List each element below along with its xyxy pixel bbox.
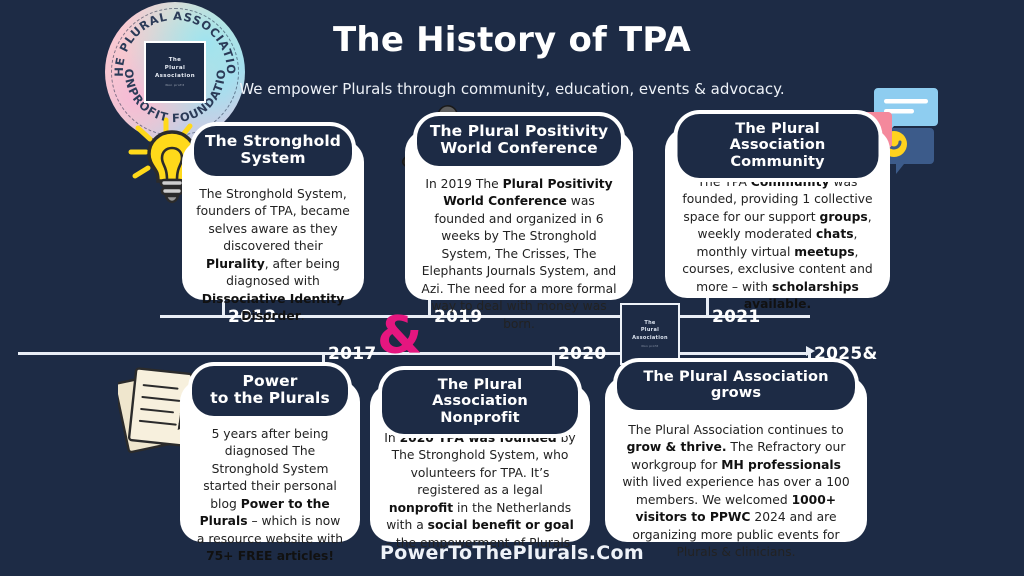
card-grows-body: The Plural Association continues to grow…: [619, 422, 853, 562]
card-nonprofit-title-line1: The Plural Association: [392, 377, 568, 410]
card-nonprofit-title: The Plural Association Nonprofit: [382, 370, 578, 434]
timeline-logo-line-1: The: [644, 320, 655, 328]
card-grows-title-line2: grows: [627, 385, 845, 401]
timeline-logo-tagline: Non profit: [642, 344, 659, 348]
ampersand-accent: &: [377, 310, 422, 362]
infographic-canvas: THE PLURAL ASSOCIATION NONPROFIT FOUNDAT…: [0, 0, 1024, 576]
card-power-to-the-plurals: Power to the Plurals 5 years after being…: [180, 380, 360, 542]
timeline-midpoint-logo: The Plural Association Non profit: [620, 303, 680, 365]
card-power-title-line2: to the Plurals: [202, 390, 338, 407]
card-plural-association-nonprofit: The Plural Association Nonprofit In 2020…: [370, 384, 590, 542]
timeline-year-2017: 2017: [328, 344, 377, 364]
card-power-title: Power to the Plurals: [192, 366, 348, 416]
card-power-title-line1: Power: [202, 373, 338, 390]
card-nonprofit-title-line2: Nonprofit: [392, 410, 568, 426]
card-nonprofit-body: In 2020 TPA was founded by The Stronghol…: [384, 430, 576, 552]
logo-line-3: Association: [155, 73, 195, 81]
card-plural-positivity-world-conference: The Plural Positivity World Conference I…: [405, 130, 633, 300]
card-community-title-line1: The Plural Association: [687, 121, 868, 154]
card-community-title-line2: Community: [687, 154, 868, 170]
timeline-year-2025: 2025&: [814, 344, 878, 364]
logo-tagline: Non profit: [166, 83, 185, 87]
card-ppwc-title-line2: World Conference: [427, 140, 611, 157]
card-plural-association-grows: The Plural Association grows The Plural …: [605, 376, 867, 542]
card-stronghold-body: The Stronghold System, founders of TPA, …: [196, 186, 350, 326]
card-community-body: The TPA Community was founded, providing…: [679, 174, 876, 314]
card-stronghold-title-line2: System: [204, 150, 342, 167]
card-ppwc-title-line1: The Plural Positivity: [427, 123, 611, 140]
card-stronghold-system: The Stronghold System The Stronghold Sys…: [182, 140, 364, 300]
logo-inner-square: The Plural Association Non profit: [144, 41, 206, 103]
tpa-logo-badge: THE PLURAL ASSOCIATION NONPROFIT FOUNDAT…: [105, 2, 245, 142]
footer-website: PowerToThePlurals.Com: [0, 542, 1024, 564]
timeline-logo-line-3: Association: [632, 335, 668, 343]
card-plural-association-community: The Plural Association Community The TPA…: [665, 128, 890, 298]
card-ppwc-title: The Plural Positivity World Conference: [417, 116, 621, 166]
card-community-title: The Plural Association Community: [677, 114, 878, 178]
logo-line-1: The: [169, 57, 182, 65]
card-grows-title-line1: The Plural Association: [627, 369, 845, 385]
timeline-logo-line-2: Plural: [641, 327, 659, 335]
timeline-year-2020: 2020: [558, 344, 607, 364]
card-ppwc-body: In 2019 The Plural Positivity World Conf…: [419, 176, 619, 333]
logo-line-2: Plural: [165, 65, 186, 73]
card-grows-title: The Plural Association grows: [617, 362, 855, 410]
